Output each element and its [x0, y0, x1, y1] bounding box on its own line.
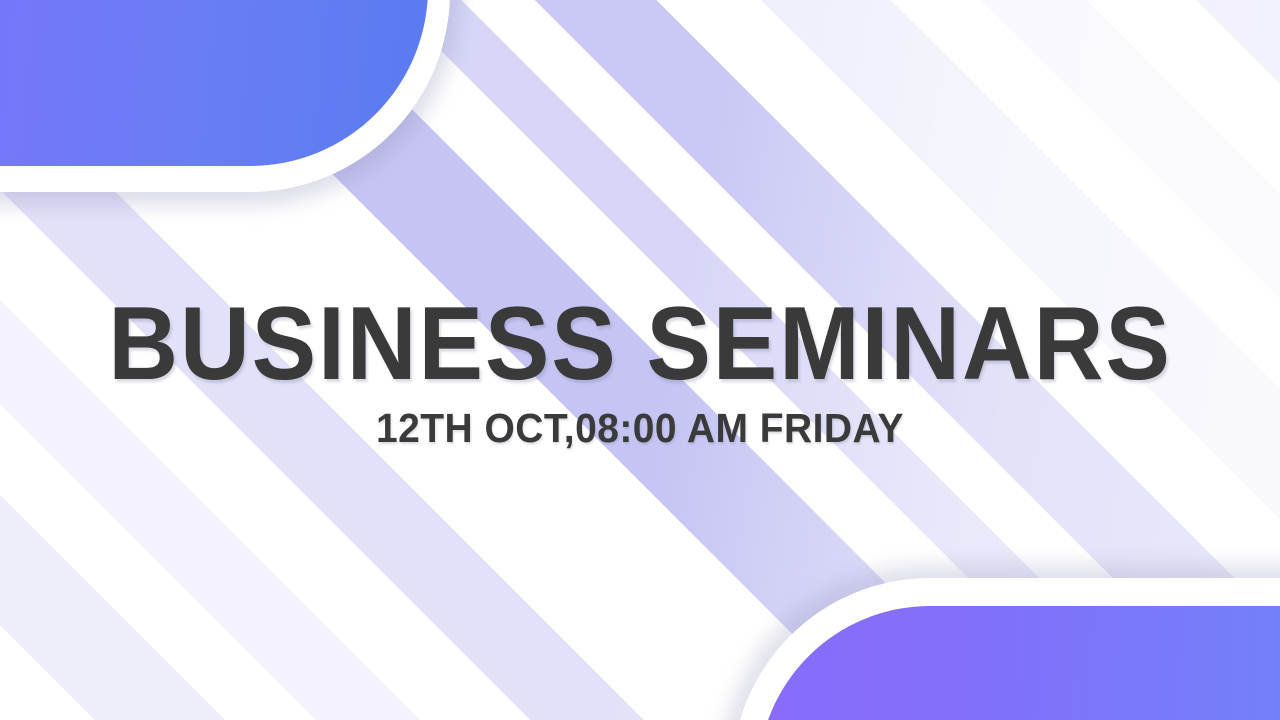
banner-title: BUSINESS SEMINARS: [45, 292, 1235, 396]
bottom-right-gradient-panel: [720, 560, 1280, 720]
banner-text-block: BUSINESS SEMINARS 12TH OCT,08:00 AM FRID…: [0, 292, 1280, 449]
event-banner: BUSINESS SEMINARS 12TH OCT,08:00 AM FRID…: [0, 0, 1280, 720]
top-left-gradient-panel: [0, 0, 460, 210]
banner-subtitle: 12TH OCT,08:00 AM FRIDAY: [32, 408, 1248, 449]
